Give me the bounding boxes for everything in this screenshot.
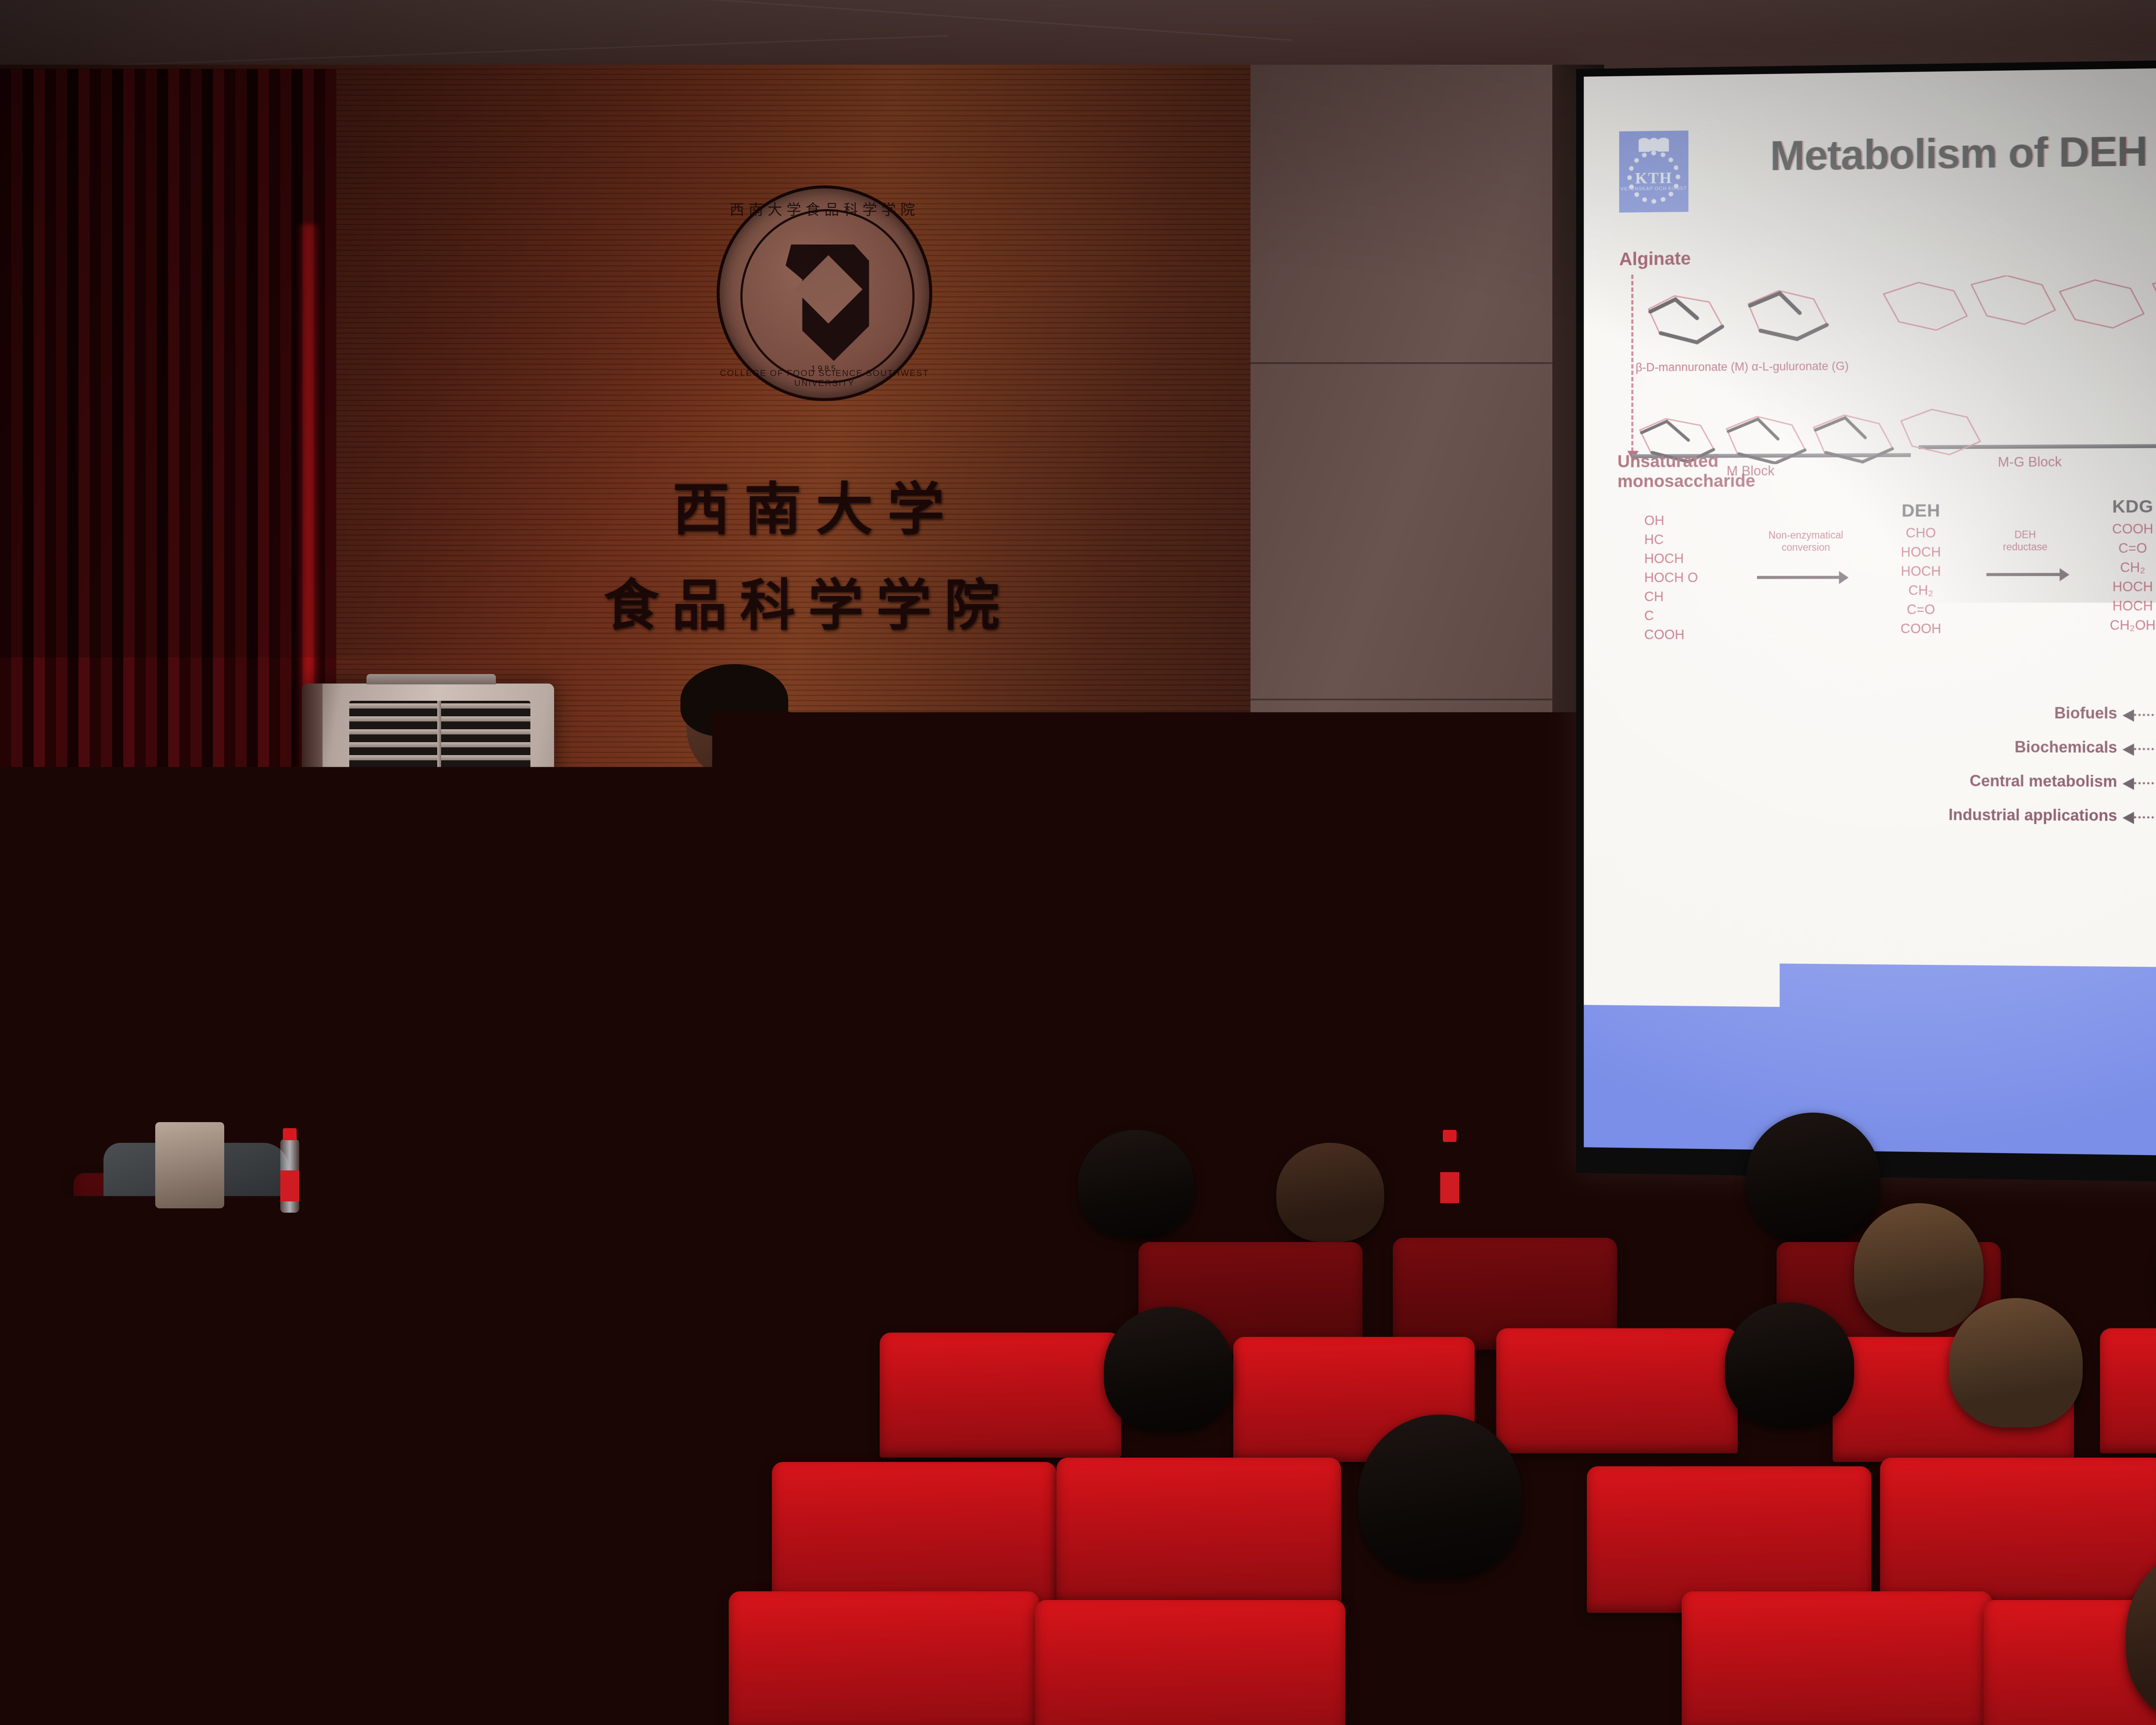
presenter-left-arm xyxy=(612,962,712,1112)
presenter-mouth xyxy=(774,743,792,760)
audience-head xyxy=(522,1423,677,1574)
stage-curtain xyxy=(0,69,336,1190)
podium-body xyxy=(1163,968,1456,1102)
audience-head xyxy=(1725,1302,1854,1427)
seat xyxy=(1056,1458,1341,1604)
seat xyxy=(224,1466,509,1613)
wall-calligraphy-line-1: 西南大学 xyxy=(673,464,959,546)
pyruvate-name: Pyruvate xyxy=(2139,750,2156,770)
slide-title: Metabolism of DEH in microorganism xyxy=(1770,123,2156,180)
water-bottle xyxy=(280,1139,299,1213)
kth-crown-icon xyxy=(1639,137,1669,152)
seat xyxy=(880,1333,1121,1458)
ac-air-grille xyxy=(349,701,530,797)
ac-temperature-display: ••• 25 xyxy=(429,826,462,883)
seat xyxy=(26,1236,241,1343)
audience-head xyxy=(1949,1298,2083,1427)
presenter-hand xyxy=(802,806,850,856)
glasses-icon xyxy=(742,712,792,724)
qr-code-icon xyxy=(523,823,534,834)
bottle-cap-icon xyxy=(1443,1130,1457,1142)
pathway-step-1-formula: CHO HOCH HOCH CH₂ C=O COOH xyxy=(1866,524,1976,639)
conversion-arrow-1 xyxy=(1987,573,2061,576)
presenter xyxy=(569,664,914,1216)
seat xyxy=(1371,1156,1557,1251)
seat xyxy=(1496,1328,1738,1453)
enzyme-1-line2: reductase xyxy=(2003,541,2047,553)
unsaturated-monosaccharide-label: Unsaturated monosaccharide xyxy=(1617,451,1755,492)
audience-head xyxy=(1854,1203,1984,1333)
alginate-label: Alginate xyxy=(1619,248,1691,270)
seat xyxy=(241,1600,552,1725)
presentation-clicker-icon[interactable] xyxy=(699,1091,730,1112)
air-conditioner-unit[interactable]: ••• 25 xyxy=(302,684,554,1201)
audience-head xyxy=(1104,1307,1233,1432)
seat xyxy=(729,1591,1039,1725)
wall-calligraphy-line-2: 食品科学学院 xyxy=(604,561,1012,640)
audience-head xyxy=(845,1216,970,1337)
kth-logo-text: KTH xyxy=(1619,169,1689,188)
alginate-to-monosaccharide-arrow xyxy=(1631,275,1633,452)
pathway-step-2: KDG COOH C=O CH₂ HOCH HOCH CH₂OH xyxy=(2078,496,2156,635)
audience-head xyxy=(1078,1130,1194,1238)
output-arrow-1 xyxy=(2134,748,2156,750)
audience-seating xyxy=(0,1156,2156,1725)
pathway-step-0-name xyxy=(1627,508,1744,508)
bottle-cap-icon xyxy=(283,1128,297,1140)
audience-head xyxy=(1423,1557,1591,1725)
audience-head xyxy=(1746,1113,1880,1242)
bottle-label xyxy=(1440,1172,1459,1203)
pathway-step-1-name: DEH xyxy=(1866,501,1976,520)
presenter-hair xyxy=(680,664,788,737)
output-label-industrial-applications: Industrial applications xyxy=(1739,805,2117,825)
enzyme-0-line1: Non-enzymatical xyxy=(1768,530,1843,541)
seat xyxy=(1035,1600,1345,1725)
bottle-label xyxy=(280,1170,299,1201)
output-arrow-2 xyxy=(2134,782,2156,784)
audience-head xyxy=(492,1298,625,1427)
presenter-collar xyxy=(702,785,745,815)
pathway-step-2-name: KDG xyxy=(2078,496,2156,516)
pathway-step-2-formula: COOH C=O CH₂ HOCH HOCH CH₂OH xyxy=(2078,519,2156,635)
ac-top-cap xyxy=(367,674,496,684)
water-bottle xyxy=(1440,1141,1459,1214)
enzyme-1-line1: DEH xyxy=(2015,529,2036,540)
pyruvate-formula: COOH C=O CH₂ xyxy=(2139,690,2156,748)
kth-logo-icon: KTH VETENSKAP OCH KONST xyxy=(1619,131,1689,213)
projection-screen-frame: KTH VETENSKAP OCH KONST Metabolism of DE… xyxy=(1576,53,2156,1189)
seat xyxy=(0,1328,224,1453)
university-emblem: 西南大学食品科学学院 1985 COLLEGE OF FOOD SCIENCE … xyxy=(717,185,932,401)
seat xyxy=(241,1337,483,1462)
unsat-line1: Unsaturated xyxy=(1617,452,1718,471)
enzyme-label-1: DEH reductase xyxy=(1981,528,2069,553)
ac-mode-indicator-dots: ••• xyxy=(430,832,461,840)
ac-control-keypad[interactable] xyxy=(429,886,462,913)
kth-logo-motto: VETENSKAP OCH KONST xyxy=(1619,186,1689,192)
slide-footer-band-left xyxy=(1584,1005,1783,1150)
ac-temperature-value: 25 xyxy=(433,843,458,866)
seat xyxy=(772,1462,1056,1609)
enzyme-label-0: Non-enzymatical conversion xyxy=(1754,529,1858,553)
seat xyxy=(1682,1591,1992,1725)
ac-side-bezel xyxy=(302,684,323,1201)
output-arrow-3 xyxy=(2134,816,2156,819)
seat xyxy=(1984,1173,2156,1259)
audience-head xyxy=(1276,1143,1384,1242)
emblem-english-text: COLLEGE OF FOOD SCIENCE SOUTHWEST UNIVER… xyxy=(720,369,929,389)
seat xyxy=(2100,1328,2156,1453)
pathway-step-0-formula: OH HC HOCH HOCH O CH C COOH xyxy=(1627,511,1744,644)
projected-slide: KTH VETENSKAP OCH KONST Metabolism of DE… xyxy=(1584,61,2156,1162)
unsat-line2: monosaccharide xyxy=(1617,471,1755,491)
audience-head xyxy=(82,1570,237,1725)
pyruvate-node: COOH C=O CH₂ Pyruvate xyxy=(2139,690,2156,770)
spare-chair xyxy=(155,1122,224,1208)
output-label-biofuels: Biofuels xyxy=(1871,703,2117,722)
output-arrow-0 xyxy=(2134,714,2156,716)
pathway-step-0: OH HC HOCH HOCH O CH C COOH xyxy=(1627,508,1744,644)
seat xyxy=(1880,1458,2156,1604)
alginate-monomer-structures-icon xyxy=(1640,273,2156,374)
seat xyxy=(617,1328,858,1453)
lecture-hall-photo: 西南大学食品科学学院 1985 COLLEGE OF FOOD SCIENCE … xyxy=(0,0,2156,1725)
pathway-step-1: DEH CHO HOCH HOCH CH₂ C=O COOH xyxy=(1866,501,1976,638)
enzyme-0-line2: conversion xyxy=(1782,542,1830,553)
output-label-central-metabolism: Central metabolism xyxy=(1766,771,2117,791)
conversion-arrow-0 xyxy=(1757,576,1840,579)
podium-top-surface xyxy=(1115,914,1503,970)
seat xyxy=(1587,1466,1871,1613)
output-label-biochemicals: Biochemicals xyxy=(1827,737,2117,757)
audience-head xyxy=(1358,1414,1522,1578)
ac-energy-label-sticker xyxy=(505,811,537,853)
emblem-chinese-text: 西南大学食品科学学院 xyxy=(720,198,929,219)
